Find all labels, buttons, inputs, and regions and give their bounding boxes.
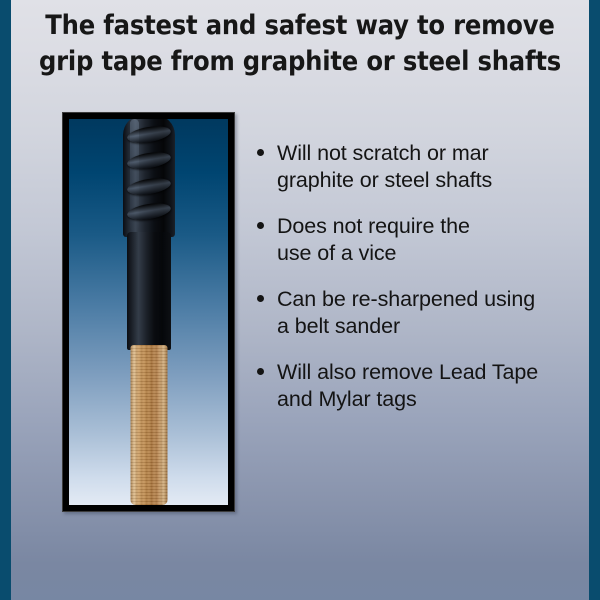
bullet-dot-icon	[257, 368, 264, 375]
left-accent-bar	[0, 0, 11, 600]
bullet-dot-icon	[257, 149, 264, 156]
product-photo	[69, 119, 228, 505]
bullet-line-2: and Mylar tags	[277, 386, 582, 413]
feature-bullet-list: Will not scratch or mar graphite or stee…	[252, 140, 582, 432]
bullet-dot-icon	[257, 295, 264, 302]
title-line-2: grip tape from graphite or steel shafts	[11, 44, 589, 80]
bullet-line-1: Will also remove Lead Tape	[277, 359, 582, 386]
bullet-line-2: graphite or steel shafts	[277, 167, 582, 194]
bullet-line-2: a belt sander	[277, 313, 582, 340]
tool-cutting-head-icon	[123, 119, 175, 237]
list-item: Does not require the use of a vice	[252, 213, 582, 267]
tool-wooden-handle	[130, 345, 167, 505]
list-item: Will not scratch or mar graphite or stee…	[252, 140, 582, 194]
bullet-line-2: use of a vice	[277, 240, 582, 267]
title-line-1: The fastest and safest way to remove	[11, 8, 589, 44]
slide-canvas: The fastest and safest way to remove gri…	[0, 0, 600, 600]
right-accent-bar	[589, 0, 600, 600]
bullet-line-1: Will not scratch or mar	[277, 140, 582, 167]
product-photo-frame	[62, 112, 235, 512]
tool-shank	[127, 232, 171, 350]
slide-title: The fastest and safest way to remove gri…	[11, 8, 589, 80]
bullet-line-1: Can be re-sharpened using	[277, 286, 582, 313]
list-item: Can be re-sharpened using a belt sander	[252, 286, 582, 340]
bullet-line-1: Does not require the	[277, 213, 582, 240]
list-item: Will also remove Lead Tape and Mylar tag…	[252, 359, 582, 413]
bullet-dot-icon	[257, 222, 264, 229]
